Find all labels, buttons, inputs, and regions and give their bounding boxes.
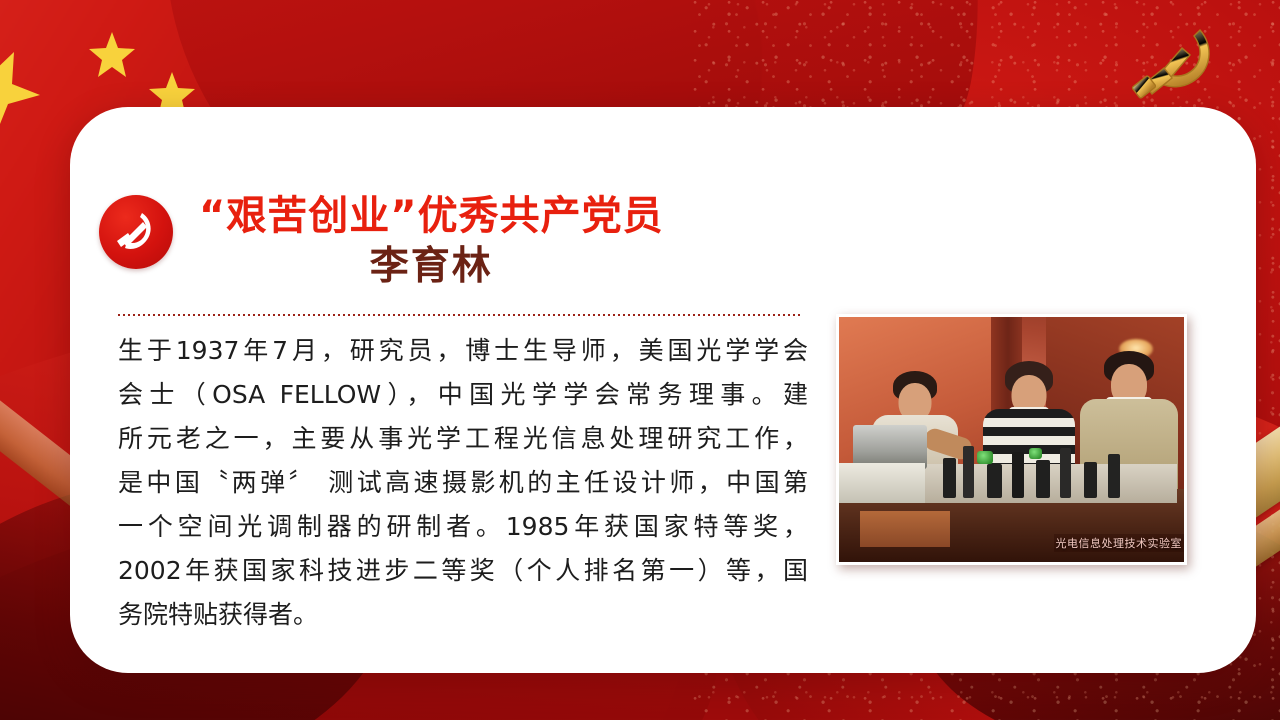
bio-line: 是中国〝两弹〞 测试高速摄影机的主任设计师，中国第 <box>118 461 808 505</box>
biography-text: 生于1937年7月，研究员，博士生导师，美国光学学会 会士（OSA FELLOW… <box>118 329 808 637</box>
bio-line: 生于1937年7月，研究员，博士生导师，美国光学学会 <box>118 329 808 373</box>
lab-photo: 光电信息处理技术实验室 <box>836 314 1187 565</box>
bio-line: 一个空间光调制器的研制者。1985年获国家特等奖， <box>118 505 808 549</box>
slide-root: “艰苦创业”优秀共产党员 李育林 生于1937年7月，研究员，博士生导师，美国光… <box>0 0 1280 720</box>
photo-caption: 光电信息处理技术实验室 <box>1054 534 1185 552</box>
bio-line: 所元老之一，主要从事光学工程光信息处理研究工作， <box>118 417 808 461</box>
dotted-divider <box>118 314 802 316</box>
bio-line: 2002年获国家科技进步二等奖（个人排名第一）等，国 <box>118 549 808 593</box>
hammer-sickle-badge-icon <box>99 195 173 269</box>
hammer-sickle-emblem-icon <box>1122 18 1232 110</box>
title-block: “艰苦创业”优秀共产党员 李育林 <box>99 191 829 291</box>
photo-green-optic <box>977 451 993 464</box>
bio-line: 会士（OSA FELLOW），中国光学学会常务理事。建 <box>118 373 808 417</box>
bio-line: 务院特贴获得者。 <box>118 593 808 637</box>
photo-green-optic <box>1029 448 1042 459</box>
person-name: 李育林 <box>199 244 664 291</box>
photo-wooden-box <box>860 511 950 547</box>
content-card: “艰苦创业”优秀共产党员 李育林 生于1937年7月，研究员，博士生导师，美国光… <box>70 107 1256 673</box>
photo-white-box <box>839 463 925 503</box>
page-title: “艰苦创业”优秀共产党员 <box>199 193 664 240</box>
lab-photo-image: 光电信息处理技术实验室 <box>839 317 1184 562</box>
